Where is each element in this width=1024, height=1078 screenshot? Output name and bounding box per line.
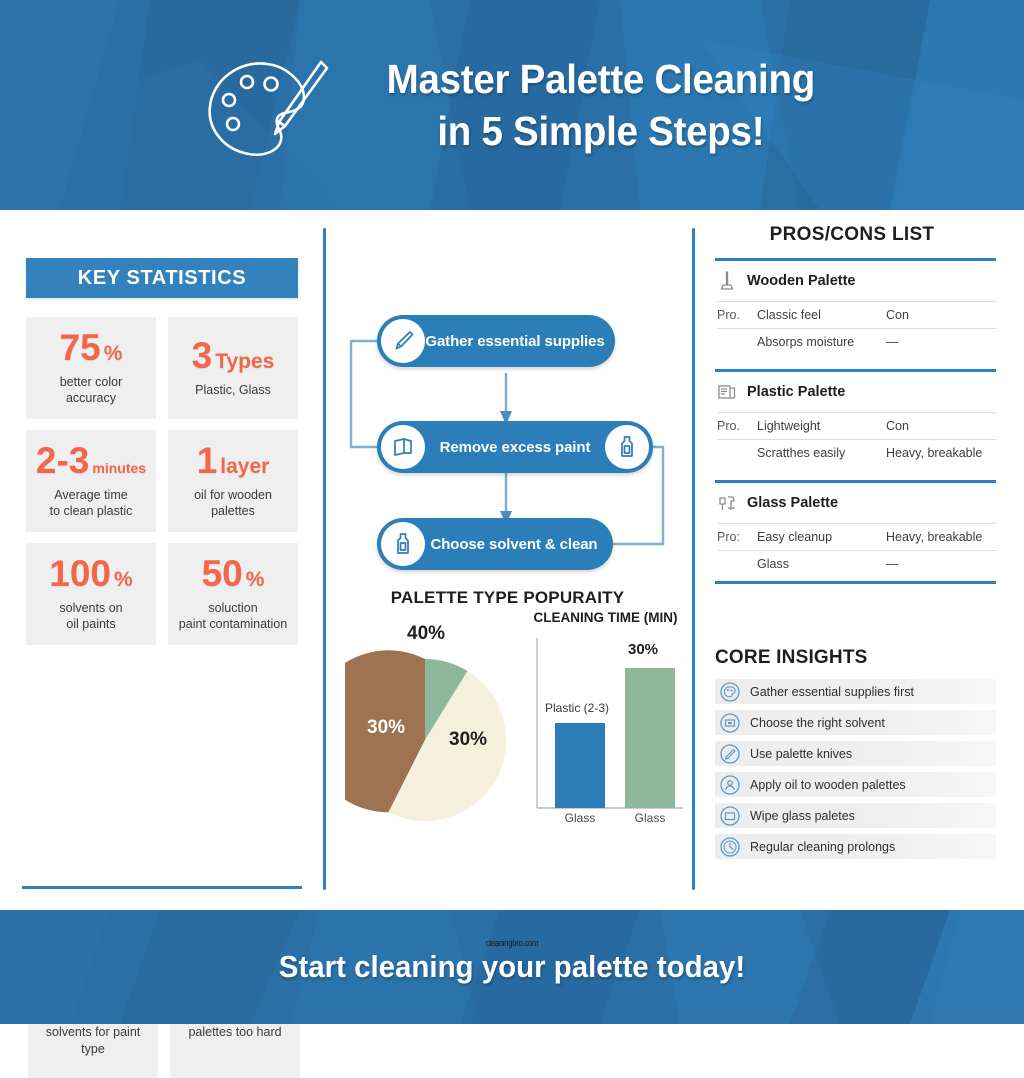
flow-step-1[interactable]: Gather essential supplies [377, 315, 615, 367]
insight-text: Gather essential supplies first [750, 685, 914, 699]
pros-cons-row: Scratthes easily Heavy, breakable [717, 440, 996, 466]
palette-name: Plastic Palette [747, 384, 845, 400]
core-insights-title: CORE INSIGHTS [715, 647, 868, 669]
con-value-2: Heavy, breakable [886, 446, 996, 460]
core-insights-list: Gather essential supplies first Choose t… [715, 679, 996, 865]
stat-card: 75 % better coloraccuracy [26, 317, 156, 419]
watermark: cleaningbro.com [77, 938, 947, 948]
con-value-2: — [886, 335, 996, 349]
insight-item[interactable]: Apply oil to wooden palettes [715, 772, 996, 797]
pros-cons-block-glass: Glass Palette Pro: Easy cleanup Heavy, b… [715, 483, 996, 577]
insight-item[interactable]: Gather essential supplies first [715, 679, 996, 704]
pros-cons-list: Wooden Palette Pro. Classic feel Con Abs… [715, 258, 996, 584]
stat-unit: layer [220, 456, 269, 477]
key-statistics-grid: 75 % better coloraccuracy 3 Types Plasti… [26, 317, 298, 645]
plastic-palette-icon [717, 381, 737, 403]
person-circle-icon [719, 774, 741, 796]
pie-slice-label-cream: 30% [449, 729, 487, 751]
palette-name: Glass Palette [747, 495, 838, 511]
pros-cons-row: Pro. Lightweight Con [717, 413, 996, 440]
stat-label: Average timeto clean plastic [50, 488, 133, 519]
pros-cons-header: Plastic Palette [717, 372, 996, 413]
stat-number: 3 [192, 337, 213, 374]
stat-value: 2-3 minutes [36, 442, 146, 479]
stat-value: 75 % [60, 329, 123, 366]
con-value: Con [886, 308, 996, 322]
knife-circle-icon [719, 743, 741, 765]
stat-card: 3 Types Plastic, Glass [168, 317, 298, 419]
stat-value: 50 % [202, 555, 265, 592]
section-divider [22, 886, 302, 889]
rectangle-circle-icon [719, 712, 741, 734]
paper-towel-icon [381, 425, 425, 469]
stat-unit: % [246, 569, 265, 590]
bar-1-category-label: Glass [555, 811, 605, 825]
insight-item[interactable]: Choose the right solvent [715, 710, 996, 735]
stat-unit: Types [215, 351, 274, 372]
stat-value: 1 layer [197, 442, 270, 479]
solvent-bottle-icon [605, 425, 649, 469]
pie-slice-label-brown: 30% [367, 717, 405, 739]
stat-unit: minutes [92, 461, 146, 475]
pro-key: Pro. [717, 419, 757, 433]
insight-item[interactable]: Wipe glass paletes [715, 803, 996, 828]
con-value: Con [886, 419, 996, 433]
footer-cta: Start cleaning your palette today! [26, 910, 999, 1024]
pro-value-2: Glass [757, 557, 886, 571]
glass-palette-icon [717, 492, 737, 514]
pro-key: Pro: [717, 530, 757, 544]
stat-card: 100 % solvents onoil paints [26, 543, 156, 645]
left-column: KEY STATISTICS 75 % better coloraccuracy… [0, 210, 323, 910]
solvent-bottle-icon [381, 522, 425, 566]
right-column: PROS/CONS LIST Wooden Palette Pro. Class… [692, 210, 1024, 910]
pro-value-2: Scratthes easily [757, 446, 886, 460]
pro-key: Pro. [717, 308, 757, 322]
spacer [715, 466, 996, 480]
pro-value-2: Absorps moisture [757, 335, 886, 349]
pros-cons-block-plastic: Plastic Palette Pro. Lightweight Con Scr… [715, 372, 996, 466]
stat-label: oil for woodenpalettes [194, 488, 272, 519]
body-area: KEY STATISTICS 75 % better coloraccuracy… [0, 210, 1024, 910]
flow-step-2-label: Remove excess paint [425, 439, 605, 456]
pros-cons-header: Wooden Palette [717, 261, 996, 302]
pie-chart-title: PALETTE TYPE POPURAITY [323, 588, 692, 608]
stat-card: 50 % soluctionpaint contamination [168, 543, 298, 645]
wooden-palette-icon [717, 270, 737, 292]
insight-item[interactable]: Regular cleaning prolongs [715, 834, 996, 859]
stat-number: 1 [197, 442, 218, 479]
pros-cons-header: Glass Palette [717, 483, 996, 524]
stat-value: 100 % [49, 555, 132, 592]
con-value-2: — [886, 557, 996, 571]
palette-brush-icon [195, 48, 345, 168]
title-line-2: in 5 Simple Steps! [387, 105, 815, 157]
screen-circle-icon [719, 805, 741, 827]
bar-chart-title: CLEANING TIME (MIN) [523, 610, 688, 625]
pie-slice-label-green: 40% [407, 623, 445, 645]
paintbrush-icon [381, 319, 425, 363]
stat-unit: % [114, 569, 133, 590]
palette-circle-icon [719, 681, 741, 703]
pros-cons-title: PROS/CONS LIST [692, 224, 1012, 246]
stat-number: 100 [49, 555, 111, 592]
pros-cons-row: Pro. Classic feel Con [717, 302, 996, 329]
pro-value: Classic feel [757, 308, 886, 322]
pro-value: Lightweight [757, 419, 886, 433]
stat-label: better coloraccuracy [60, 375, 123, 406]
pros-cons-row: Pro: Easy cleanup Heavy, breakable [717, 524, 996, 551]
bar-chart: CLEANING TIME (MIN) Plastic (2-3) 30% Gl… [523, 610, 688, 855]
bar-2-value-label: 30% [628, 641, 658, 658]
stat-card: 2-3 minutes Average timeto clean plastic [26, 430, 156, 532]
insight-item[interactable]: Use palette knives [715, 741, 996, 766]
con-value: Heavy, breakable [886, 530, 996, 544]
stat-card: 1 layer oil for woodenpalettes [168, 430, 298, 532]
insight-text: Wipe glass paletes [750, 809, 855, 823]
pie-chart-svg [345, 625, 535, 855]
insight-text: Apply oil to wooden palettes [750, 778, 906, 792]
flow-step-3[interactable]: Choose solvent & clean [377, 518, 613, 570]
stat-number: 50 [202, 555, 243, 592]
pros-cons-row: Glass — [717, 551, 996, 577]
header-banner: Master Palette Cleaning in 5 Simple Step… [0, 0, 1024, 210]
flow-diagram: Gather essential supplies Remove excess … [323, 315, 692, 565]
insight-text: Choose the right solvent [750, 716, 885, 730]
stat-number: 2-3 [36, 442, 89, 479]
clock-circle-icon [719, 836, 741, 858]
pros-cons-block-wooden: Wooden Palette Pro. Classic feel Con Abs… [715, 261, 996, 355]
pie-chart: 30% 40% 30% [345, 625, 535, 855]
palette-name: Wooden Palette [747, 273, 856, 289]
pros-cons-rule [715, 581, 996, 584]
flow-step-2[interactable]: Remove excess paint [377, 421, 653, 473]
flow-step-1-label: Gather essential supplies [425, 333, 605, 350]
stat-value: 3 Types [192, 337, 275, 374]
stat-unit: % [104, 343, 123, 364]
bar-1-value-label: Plastic (2-3) [545, 701, 609, 715]
flow-step-3-label: Choose solvent & clean [425, 536, 603, 553]
key-statistics-header: KEY STATISTICS [26, 258, 298, 298]
spacer [715, 355, 996, 369]
pros-cons-row: Absorps moisture — [717, 329, 996, 355]
insight-text: Use palette knives [750, 747, 852, 761]
stat-label: solvents onoil paints [59, 601, 122, 632]
stat-label: Plastic, Glass [195, 383, 271, 399]
title-line-1: Master Palette Cleaning [387, 53, 815, 105]
page-title: Master Palette Cleaning in 5 Simple Step… [373, 53, 829, 158]
stat-number: 75 [60, 329, 101, 366]
middle-column: Gather essential supplies Remove excess … [323, 210, 692, 910]
insight-text: Regular cleaning prolongs [750, 840, 895, 854]
bar-2-category-label: Glass [625, 811, 675, 825]
pro-value: Easy cleanup [757, 530, 886, 544]
stat-label: soluctionpaint contamination [179, 601, 287, 632]
footer-banner: Start cleaning your palette today! [0, 910, 1024, 1024]
